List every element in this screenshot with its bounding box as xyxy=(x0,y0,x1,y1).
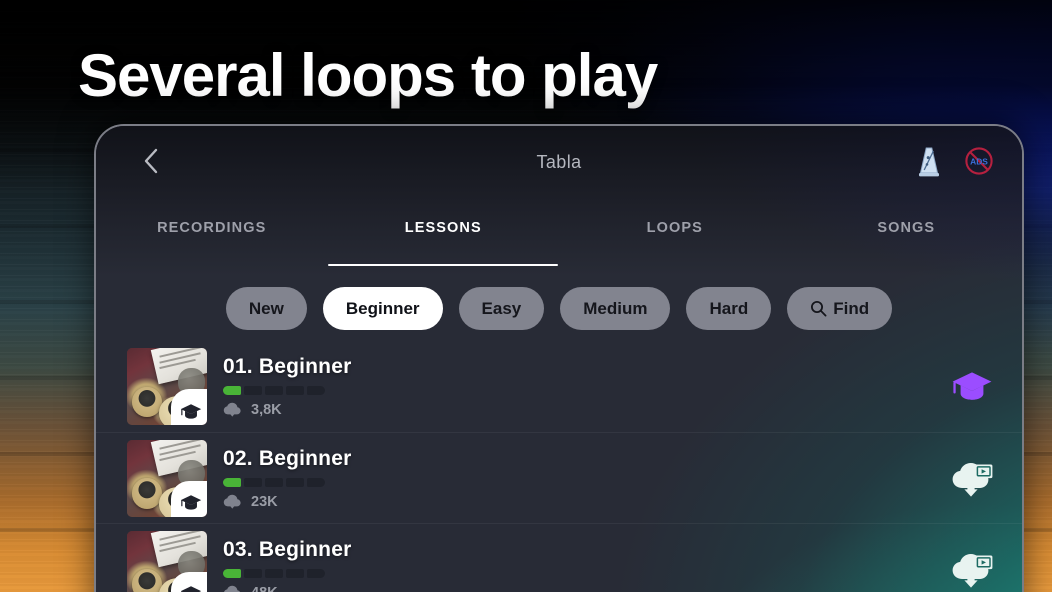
lesson-info: 02. Beginner 23K xyxy=(223,447,351,510)
lesson-title: 01. Beginner xyxy=(223,355,351,379)
filter-chip-medium[interactable]: Medium xyxy=(560,287,670,330)
lesson-download-button[interactable] xyxy=(950,547,994,591)
filter-chip-beginner[interactable]: Beginner xyxy=(323,287,443,330)
tab-label: RECORDINGS xyxy=(157,220,266,236)
progress-segment xyxy=(265,386,283,395)
metronome-icon[interactable] xyxy=(916,146,946,178)
lesson-row[interactable]: 03. Beginner 48K xyxy=(96,523,1022,592)
tab-bar: RECORDINGSLESSONSLOOPSSONGS xyxy=(96,208,1022,264)
download-count: 48K xyxy=(251,585,278,592)
filter-chip-label: Hard xyxy=(709,299,748,319)
tab-active-underline xyxy=(328,264,558,266)
lesson-open-button[interactable] xyxy=(950,365,994,409)
app-screen: Tabla xyxy=(96,126,1022,592)
progress-segment xyxy=(286,478,304,487)
progress-segment xyxy=(223,386,241,395)
promo-screenshot: Several loops to play Tabla xyxy=(0,0,1052,592)
tab-loops[interactable]: LOOPS xyxy=(559,208,791,264)
lesson-meta: 48K xyxy=(223,585,351,592)
progress-segment xyxy=(286,569,304,578)
filter-chip-label: Find xyxy=(833,299,869,319)
app-bar: Tabla xyxy=(96,126,1022,200)
filter-chip-new[interactable]: New xyxy=(226,287,307,330)
tab-songs[interactable]: SONGS xyxy=(791,208,1023,264)
lesson-info: 03. Beginner 48K xyxy=(223,538,351,592)
lesson-thumbnail xyxy=(127,440,207,517)
cloud-download-video-icon xyxy=(950,549,994,589)
filter-chip-label: Medium xyxy=(583,299,647,319)
lesson-progress-bar xyxy=(223,386,351,395)
progress-segment xyxy=(265,478,283,487)
filter-chip-row: NewBeginnerEasyMediumHard Find xyxy=(96,287,1022,330)
cloud-download-video-icon xyxy=(950,458,994,498)
lesson-title: 02. Beginner xyxy=(223,447,351,471)
cloud-download-icon xyxy=(223,402,242,418)
filter-chip-hard[interactable]: Hard xyxy=(686,287,771,330)
lesson-row[interactable]: 02. Beginner 23K xyxy=(96,432,1022,523)
lesson-list[interactable]: 01. Beginner 3,8K 02. Beginner 23K xyxy=(96,341,1022,592)
progress-segment xyxy=(223,478,241,487)
tab-lessons[interactable]: LESSONS xyxy=(328,208,560,264)
lesson-meta: 23K xyxy=(223,494,351,510)
no-ads-icon[interactable]: ADS xyxy=(964,146,994,178)
tab-label: LESSONS xyxy=(405,220,482,236)
tab-recordings[interactable]: RECORDINGS xyxy=(96,208,328,264)
filter-chip-easy[interactable]: Easy xyxy=(459,287,545,330)
progress-segment xyxy=(265,569,283,578)
lesson-type-badge xyxy=(171,481,207,517)
lesson-thumbnail xyxy=(127,531,207,592)
lesson-progress-bar xyxy=(223,569,351,578)
promo-headline: Several loops to play xyxy=(78,44,657,107)
search-icon xyxy=(810,300,827,317)
graduation-cap-icon xyxy=(180,403,202,420)
lesson-title: 03. Beginner xyxy=(223,538,351,562)
lesson-download-button[interactable] xyxy=(950,456,994,500)
page-title: Tabla xyxy=(96,152,1022,173)
lesson-thumbnail xyxy=(127,348,207,425)
filter-chip-label: Easy xyxy=(482,299,522,319)
download-count: 23K xyxy=(251,494,278,510)
progress-segment xyxy=(286,386,304,395)
progress-segment xyxy=(307,478,325,487)
cloud-download-icon xyxy=(223,585,242,592)
progress-segment xyxy=(244,569,262,578)
graduation-cap-icon xyxy=(180,585,202,592)
app-bar-actions: ADS xyxy=(916,146,994,178)
no-ads-label: ADS xyxy=(970,157,988,167)
filter-chip-label: Beginner xyxy=(346,299,420,319)
progress-segment xyxy=(307,569,325,578)
lesson-row[interactable]: 01. Beginner 3,8K xyxy=(96,341,1022,432)
progress-segment xyxy=(244,478,262,487)
download-count: 3,8K xyxy=(251,402,282,418)
progress-segment xyxy=(307,386,325,395)
graduation-cap-icon xyxy=(180,494,202,511)
lesson-meta: 3,8K xyxy=(223,402,351,418)
graduation-cap-icon xyxy=(951,370,993,403)
lesson-type-badge xyxy=(171,389,207,425)
lesson-progress-bar xyxy=(223,478,351,487)
lesson-info: 01. Beginner 3,8K xyxy=(223,355,351,418)
tab-label: LOOPS xyxy=(647,220,703,236)
filter-chip-find[interactable]: Find xyxy=(787,287,892,330)
progress-segment xyxy=(223,569,241,578)
device-frame: Tabla xyxy=(94,124,1024,592)
progress-segment xyxy=(244,386,262,395)
cloud-download-icon xyxy=(223,494,242,510)
tab-label: SONGS xyxy=(877,220,935,236)
filter-chip-label: New xyxy=(249,299,284,319)
